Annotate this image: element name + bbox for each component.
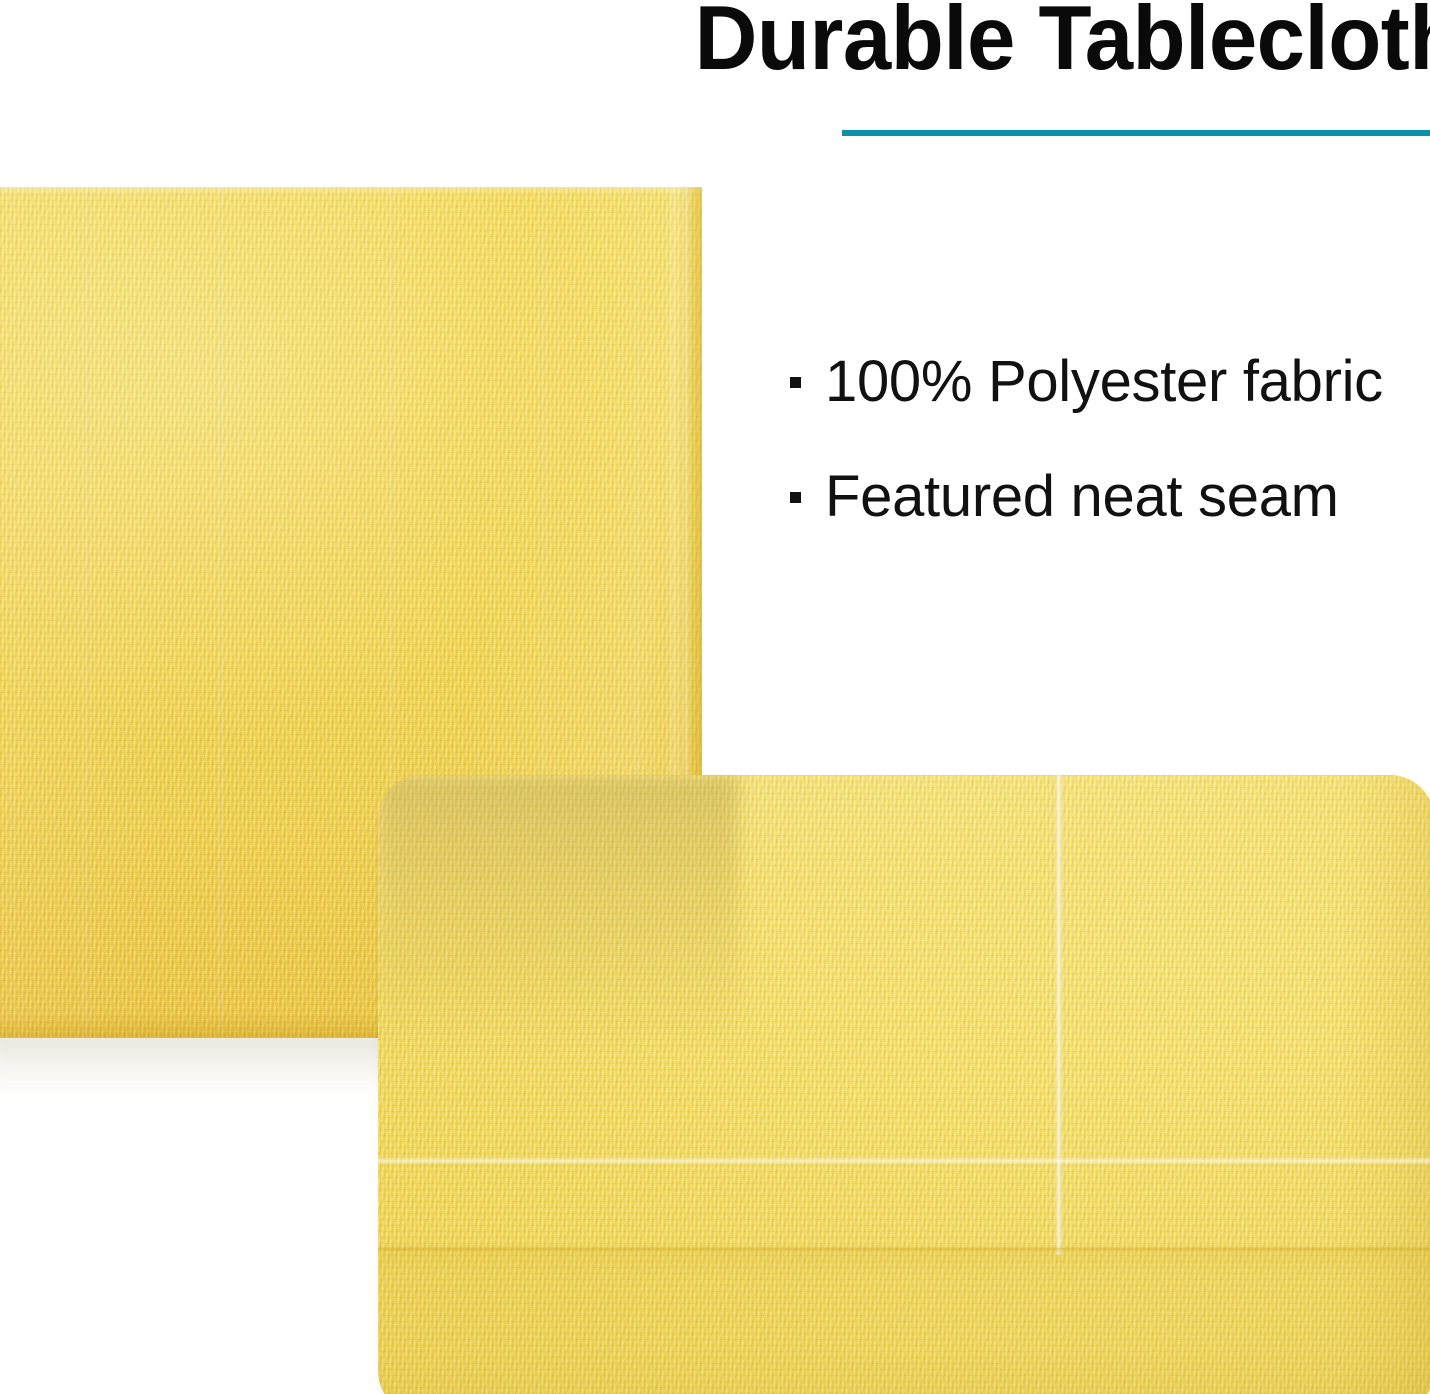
title-divider-rule bbox=[842, 130, 1430, 136]
square-bullet-icon bbox=[790, 492, 801, 503]
flat-tablecloth bbox=[378, 775, 1430, 1394]
square-bullet-icon bbox=[790, 377, 801, 388]
stack-shadow-on-cloth bbox=[378, 775, 738, 1050]
product-infographic: Durable Tablecloth 100% Polyester fabric… bbox=[0, 0, 1430, 1394]
cloth-bottom-fold-band bbox=[378, 1248, 1430, 1394]
list-item: Featured neat seam bbox=[790, 467, 1430, 582]
feature-label: Featured neat seam bbox=[825, 467, 1339, 527]
fold-crease bbox=[82, 187, 87, 1038]
stack-top-highlight bbox=[0, 187, 702, 195]
feature-label: 100% Polyester fabric bbox=[825, 352, 1383, 412]
hem-seam-horizontal bbox=[378, 1157, 1430, 1165]
hem-seam-vertical bbox=[1054, 775, 1063, 1255]
page-title: Durable Tablecloth bbox=[695, 0, 1430, 84]
title-block: Durable Tablecloth bbox=[660, 0, 1430, 84]
feature-list: 100% Polyester fabric Featured neat seam bbox=[790, 352, 1430, 582]
list-item: 100% Polyester fabric bbox=[790, 352, 1430, 467]
fold-crease bbox=[218, 187, 223, 1038]
